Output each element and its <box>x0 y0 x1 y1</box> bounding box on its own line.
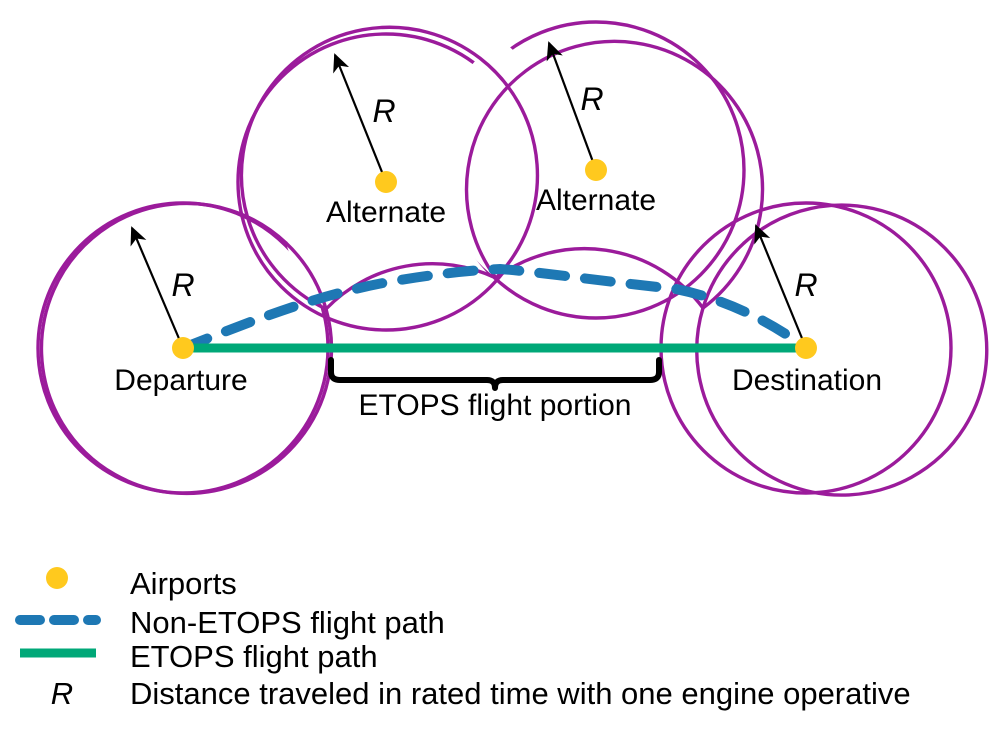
legend-label-etops: ETOPS flight path <box>130 639 378 674</box>
legend-radius-glyph-icon: R <box>51 676 73 711</box>
legend-label-non-etops: Non-ETOPS flight path <box>130 605 445 640</box>
airport-label-destination: Destination <box>732 364 882 397</box>
airport-marker-alternate-1[interactable] <box>375 171 397 193</box>
airport-label-alternate-2: Alternate <box>536 184 656 217</box>
legend-airport-dot-icon <box>46 567 68 589</box>
etops-diagram-svg: Departure Alternate Alternate Destinatio… <box>0 0 1000 737</box>
airport-label-departure: Departure <box>114 364 247 397</box>
diagram-canvas: Departure Alternate Alternate Destinatio… <box>0 0 1000 737</box>
legend-label-airports: Airports <box>130 566 237 601</box>
legend-label-radius-definition: Distance traveled in rated time with one… <box>130 676 911 711</box>
airport-label-alternate-1: Alternate <box>326 196 446 229</box>
radius-label-alternate-2: R <box>580 81 603 117</box>
airport-marker-destination[interactable] <box>795 337 817 359</box>
airport-marker-alternate-2[interactable] <box>585 159 607 181</box>
airport-marker-departure[interactable] <box>172 337 194 359</box>
legend: Airports Non-ETOPS flight path ETOPS fli… <box>20 566 911 711</box>
radius-label-departure: R <box>171 267 194 303</box>
radius-label-destination: R <box>794 267 817 303</box>
etops-portion-label: ETOPS flight portion <box>359 389 632 422</box>
etops-portion-brace <box>331 360 659 388</box>
radius-label-alternate-1: R <box>372 93 395 129</box>
